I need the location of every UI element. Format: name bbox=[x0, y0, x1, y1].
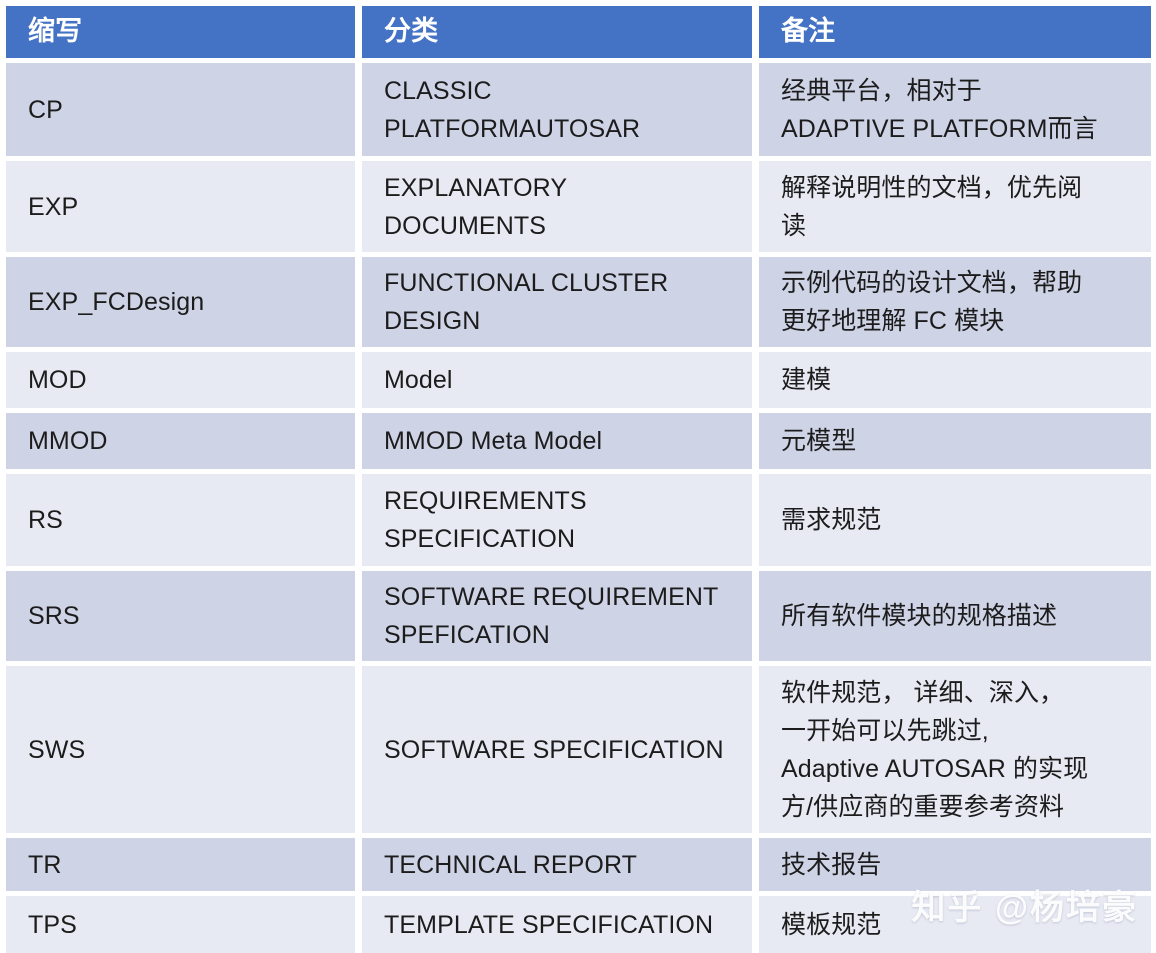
cell-category: TEMPLATE SPECIFICATION bbox=[362, 896, 752, 953]
cell-remark: 建模 bbox=[759, 352, 1151, 408]
table-row: SRS SOFTWARE REQUIREMENT SPEFICATION 所有软… bbox=[6, 571, 1150, 661]
table-row: TPS TEMPLATE SPECIFICATION 模板规范 bbox=[6, 896, 1150, 953]
cell-remark: 示例代码的设计文档，帮助 更好地理解 FC 模块 bbox=[759, 257, 1151, 347]
cell-abbreviation: EXP_FCDesign bbox=[6, 257, 355, 347]
cell-category: MMOD Meta Model bbox=[362, 413, 752, 469]
cell-abbreviation: EXP bbox=[6, 161, 355, 252]
cell-remark: 需求规范 bbox=[759, 474, 1151, 566]
table-row: MMOD MMOD Meta Model 元模型 bbox=[6, 413, 1150, 469]
table-row: MOD Model 建模 bbox=[6, 352, 1150, 408]
cell-abbreviation: SWS bbox=[6, 666, 355, 833]
document-page: 缩写 分类 备注 CP CLASSIC PLATFORMAUTOSAR 经典平台… bbox=[0, 0, 1156, 947]
cell-category: REQUIREMENTS SPECIFICATION bbox=[362, 474, 752, 566]
cell-abbreviation: MMOD bbox=[6, 413, 355, 469]
cell-remark: 元模型 bbox=[759, 413, 1151, 469]
table-row: CP CLASSIC PLATFORMAUTOSAR 经典平台，相对于 ADAP… bbox=[6, 63, 1150, 156]
cell-abbreviation: MOD bbox=[6, 352, 355, 408]
table-row: RS REQUIREMENTS SPECIFICATION 需求规范 bbox=[6, 474, 1150, 566]
table-header-row: 缩写 分类 备注 bbox=[6, 6, 1150, 58]
table-row: EXP EXPLANATORY DOCUMENTS 解释说明性的文档，优先阅 读 bbox=[6, 161, 1150, 252]
cell-abbreviation: CP bbox=[6, 63, 355, 156]
table-row: EXP_FCDesign FUNCTIONAL CLUSTER DESIGN 示… bbox=[6, 257, 1150, 347]
cell-category: EXPLANATORY DOCUMENTS bbox=[362, 161, 752, 252]
cell-category: Model bbox=[362, 352, 752, 408]
column-header-abbreviation: 缩写 bbox=[6, 6, 355, 58]
cell-abbreviation: RS bbox=[6, 474, 355, 566]
table-row: SWS SOFTWARE SPECIFICATION 软件规范， 详细、深入， … bbox=[6, 666, 1150, 833]
cell-remark: 技术报告 bbox=[759, 838, 1151, 891]
cell-category: SOFTWARE REQUIREMENT SPEFICATION bbox=[362, 571, 752, 661]
cell-remark: 所有软件模块的规格描述 bbox=[759, 571, 1151, 661]
cell-abbreviation: SRS bbox=[6, 571, 355, 661]
cell-remark: 软件规范， 详细、深入， 一开始可以先跳过, Adaptive AUTOSAR … bbox=[759, 666, 1151, 833]
cell-remark: 经典平台，相对于 ADAPTIVE PLATFORM而言 bbox=[759, 63, 1151, 156]
cell-abbreviation: TR bbox=[6, 838, 355, 891]
cell-category: SOFTWARE SPECIFICATION bbox=[362, 666, 752, 833]
cell-abbreviation: TPS bbox=[6, 896, 355, 953]
column-header-category: 分类 bbox=[362, 6, 752, 58]
cell-remark: 模板规范 bbox=[759, 896, 1151, 953]
cell-category: CLASSIC PLATFORMAUTOSAR bbox=[362, 63, 752, 156]
cell-category: TECHNICAL REPORT bbox=[362, 838, 752, 891]
cell-category: FUNCTIONAL CLUSTER DESIGN bbox=[362, 257, 752, 347]
column-header-remark: 备注 bbox=[759, 6, 1151, 58]
abbreviation-table: 缩写 分类 备注 CP CLASSIC PLATFORMAUTOSAR 经典平台… bbox=[6, 6, 1150, 953]
table-row: TR TECHNICAL REPORT 技术报告 bbox=[6, 838, 1150, 891]
cell-remark: 解释说明性的文档，优先阅 读 bbox=[759, 161, 1151, 252]
